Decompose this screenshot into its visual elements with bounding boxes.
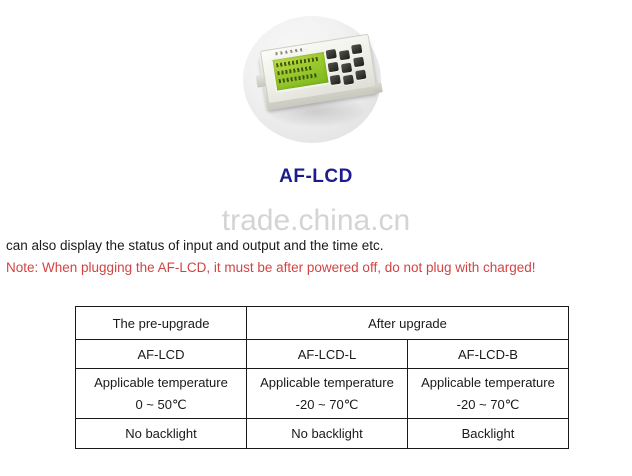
- lcd-screen: [270, 50, 331, 93]
- keypad-button: [339, 50, 350, 60]
- product-hero: [0, 0, 632, 158]
- header-cell-after-upgrade: After upgrade: [247, 307, 569, 340]
- keypad-button: [330, 75, 341, 85]
- site-watermark: trade.china.cn: [0, 204, 632, 238]
- device-keypad: [324, 44, 367, 87]
- header-cell-pre-upgrade: The pre-upgrade: [76, 307, 247, 340]
- temperature-label: Applicable temperature: [76, 372, 246, 393]
- temperature-value: 0 ~ 50℃: [76, 394, 246, 415]
- temperature-label: Applicable temperature: [408, 372, 568, 393]
- cell-model-l: AF-LCD-L: [247, 340, 408, 369]
- keypad-button: [343, 75, 354, 85]
- cell-model-b: AF-LCD-B: [408, 340, 569, 369]
- temperature-value: -20 ~ 70℃: [408, 394, 568, 415]
- keypad-button: [326, 49, 337, 59]
- lcd-text-line: [278, 73, 318, 83]
- cell-model-pre: AF-LCD: [76, 340, 247, 369]
- description-text: can also display the status of input and…: [6, 238, 384, 253]
- cell-temperature-pre: Applicable temperature 0 ~ 50℃: [76, 369, 247, 419]
- keypad-button: [355, 70, 366, 80]
- table-row: Applicable temperature 0 ~ 50℃ Applicabl…: [76, 369, 569, 419]
- keypad-button: [341, 63, 352, 73]
- cell-temperature-l: Applicable temperature -20 ~ 70℃: [247, 369, 408, 419]
- cell-backlight-l: No backlight: [247, 419, 408, 449]
- keypad-button: [328, 62, 339, 72]
- table-header-row: The pre-upgrade After upgrade: [76, 307, 569, 340]
- cell-backlight-b: Backlight: [408, 419, 569, 449]
- cell-backlight-pre: No backlight: [76, 419, 247, 449]
- keypad-button: [353, 57, 364, 67]
- temperature-value: -20 ~ 70℃: [247, 394, 407, 415]
- keypad-button: [351, 44, 362, 54]
- table-row: No backlight No backlight Backlight: [76, 419, 569, 449]
- temperature-label: Applicable temperature: [247, 372, 407, 393]
- specification-table: The pre-upgrade After upgrade AF-LCD AF-…: [75, 306, 569, 449]
- warning-note-text: Note: When plugging the AF-LCD, it must …: [6, 260, 536, 275]
- cell-temperature-b: Applicable temperature -20 ~ 70℃: [408, 369, 569, 419]
- product-title: AF-LCD: [0, 166, 632, 188]
- table-row: AF-LCD AF-LCD-L AF-LCD-B: [76, 340, 569, 369]
